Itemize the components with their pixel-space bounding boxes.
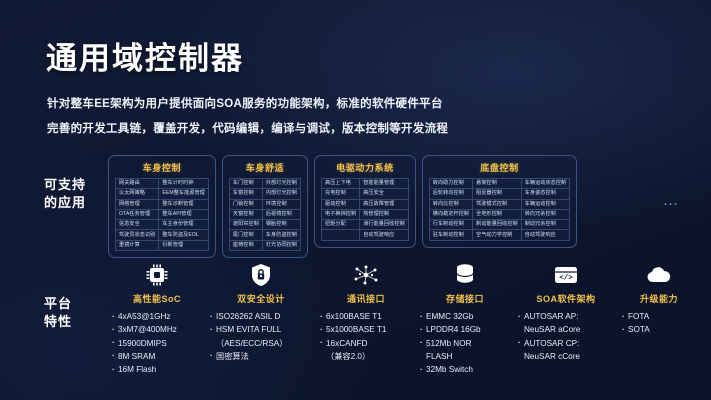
panel-columns: 车门控制 车窗控制 门锁控制 天窗控制 遮阳帘控制 尾门控制 座椅控制 外部灯光… [229,178,301,251]
panel-cell: 灯光协同控制 [263,241,301,251]
panel-column: 整车计时时钟 EEM整车能源管理 整车诊断管理 整车API管理 车主身份管理 整… [159,178,209,251]
feature-item: AUTOSAR AP: [524,310,580,323]
feature-soa-software-architecture[interactable]: </> SOA软件架构 AUTOSAR AP: NeuSAR aCore AUT… [514,262,618,363]
panel-body-control[interactable]: 车身控制 网关路由 以太网策略 网络管理 OTA任务管理 信息安全 驾驶员状态识… [108,155,216,258]
feature-item: 16xCANFD [326,337,386,350]
panel-cell: 外部灯光控制 [263,178,301,189]
panel-columns: 网关路由 以太网策略 网络管理 OTA任务管理 信息安全 驾驶员状态识别 重镜计… [115,178,209,251]
feature-item: 4xA53@1GHz [118,310,177,323]
feature-upgrade-capability[interactable]: 升级能力 FOTA SOTA [618,262,700,337]
feature-item-continuation: （兼容2.0） [326,350,386,363]
feature-title: 通讯接口 [316,292,416,305]
panel-cell: 高压上下电 [321,178,360,189]
panel-cell: 车身防盗控制 [263,230,301,240]
panel-cell: 整车API管理 [159,210,209,220]
panel-cell: 空气动力学控制 [473,230,522,240]
panel-cell: 高压故障管理 [360,200,409,210]
panel-cell: 驻车制动控制 [429,230,473,240]
applications-section-label: 可支持 的应用 [44,176,106,212]
feature-item: ISO26262 ASIL D [216,310,287,323]
feature-communication-interface[interactable]: 通讯接口 6x100BASE T1 5x1000BASE T1 16xCANFD… [316,262,416,363]
panel-cell: 车身姿态控制 [522,189,571,199]
panel-cell: 扭矩分配 [321,220,360,230]
feature-dual-safety-design[interactable]: 双安全设计 ISO26262 ASIL D HSM EVITA FULL （AE… [206,262,316,363]
panel-column: 悬架控制 阻尼器控制 驾驶模式控制 全地形控制 制动能量回收控制 空气动力学控制 [473,178,522,241]
panel-cell: 遮阳帘控制 [229,220,263,230]
feature-title: 高性能SoC [108,292,206,305]
platform-section-label: 平台 特性 [44,295,106,331]
panel-column: 车辆运动状态控制 车身姿态控制 车辆运动控制 转向冗余控制 制动冗余控制 自动驾… [522,178,571,241]
panel-cell: 转向冗余控制 [522,210,571,220]
shield-lock-icon [206,262,316,288]
database-icon [416,262,514,288]
panel-chassis-control[interactable]: 底盘控制 转向助力控制 后轮转向控制 转向比控制 横向稳定杆控制 行车制动控制 … [422,155,577,248]
panel-column: 车门控制 车窗控制 门锁控制 天窗控制 遮阳帘控制 尾门控制 座椅控制 [229,178,263,251]
panel-cell: 整车计时时钟 [159,178,209,189]
panel-title: 车身控制 [115,161,209,174]
feature-item-list: 6x100BASE T1 5x1000BASE T1 16xCANFD （兼容2… [316,310,386,363]
feature-item-list: AUTOSAR AP: NeuSAR aCore AUTOSAR CP: Neu… [514,310,580,363]
feature-item: 国密算法 [216,350,287,363]
panel-columns: 转向助力控制 后轮转向控制 转向比控制 横向稳定杆控制 行车制动控制 驻车制动控… [429,178,570,241]
panel-cell: 智能能量管理 [360,178,409,189]
more-panels-indicator[interactable]: ... [664,196,679,208]
panel-cell: 自动驾驶响应 [522,230,571,240]
panel-column: 转向助力控制 后轮转向控制 转向比控制 横向稳定杆控制 行车制动控制 驻车制动控… [429,178,473,241]
feature-item: FOTA [628,310,650,323]
panel-cell: 滑行能量回收控制 [360,220,409,230]
panel-cell: 衍新管理 [159,241,209,251]
feature-item-continuation: NeuSAR cCore [524,350,580,363]
panel-cell: 制动能量回收控制 [473,220,522,230]
feature-item: 8M SRAM [118,350,177,363]
panel-cell: 驱动控制 [321,200,360,210]
panel-column: 网关路由 以太网策略 网络管理 OTA任务管理 信息安全 驾驶员状态识别 重镜计… [115,178,159,251]
panel-cell: 网络管理 [115,200,159,210]
page-title: 通用域控制器 [46,33,244,78]
panel-cell: 车辆运动控制 [522,200,571,210]
panel-body-comfort[interactable]: 车身舒适 车门控制 车窗控制 门锁控制 天窗控制 遮阳帘控制 尾门控制 座椅控制… [222,155,308,258]
platform-label-line-2: 特性 [44,313,106,331]
feature-item-list: FOTA SOTA [618,310,650,337]
panel-cell: 后轮转向控制 [429,189,473,199]
feature-item: 6x100BASE T1 [326,310,386,323]
panel-cell: 天窗控制 [229,210,263,220]
panel-cell: 转向助力控制 [429,178,473,189]
panel-cell: 转向比控制 [429,200,473,210]
panel-cell: 网关路由 [115,178,159,189]
panel-cell: 行车制动控制 [429,220,473,230]
panel-cell: 内部灯光控制 [263,189,301,199]
chip-icon [108,262,206,288]
panel-cell: 座椅控制 [229,241,263,251]
panel-column: 高压上下电 充电控制 驱动控制 电子换挡控制 扭矩分配 . [321,178,360,241]
feature-item: 15900DMIPS [118,337,177,350]
platform-label-line-1: 平台 [44,295,106,313]
network-icon [316,262,416,288]
panel-cell: 高压安全 [360,189,409,199]
feature-item: 512Mb NOR [426,337,481,350]
panel-electric-powertrain[interactable]: 电驱动力系统 高压上下电 充电控制 驱动控制 电子换挡控制 扭矩分配 . 智能能… [314,155,416,248]
panel-column: 智能能量管理 高压安全 高压故障管理 热管理控制 滑行能量回收控制 自动驾驶响应 [360,178,409,241]
panel-cell: 车辆运动状态控制 [522,178,571,189]
feature-item: 16M Flash [118,363,177,376]
feature-storage-interface[interactable]: 存储接口 EMMC 32Gb LPDDR4 16Gb 512Mb NOR FLA… [416,262,514,376]
cloud-icon [618,262,700,288]
subtitle-line-2: 完善的开发工具链，覆盖开发，代码编辑，编译与调试，版本控制等开发流程 [47,120,448,136]
panel-title: 电驱动力系统 [321,161,409,174]
panel-cell: 环境控制 [263,200,301,210]
feature-item: 5x1000BASE T1 [326,323,386,336]
panel-cell: 悬架控制 [473,178,522,189]
panel-cell: 制动冗余控制 [522,220,571,230]
panel-cell: 钢胎控制 [263,220,301,230]
applications-label-line-1: 可支持 [44,176,106,194]
panel-cell: 全地形控制 [473,210,522,220]
panel-cell: OTA任务管理 [115,210,159,220]
panel-cell: 自动驾驶响应 [360,230,409,240]
panel-cell: 以太网策略 [115,189,159,199]
feature-title: 双安全设计 [206,292,316,305]
panel-cell-spacer: . [321,230,360,240]
subtitle-line-1: 针对整车EE架构为用户提供面向SOA服务的功能架构，标准的软件硬件平台 [47,95,443,111]
svg-text:</>: </> [559,275,573,283]
feature-item: 3xM7@400MHz [118,323,177,336]
code-window-icon: </> [514,262,618,288]
panel-cell: 车门控制 [229,178,263,189]
feature-item-list: 4xA53@1GHz 3xM7@400MHz 15900DMIPS 8M SRA… [108,310,177,376]
panel-title: 底盘控制 [429,161,570,174]
platform-features: 高性能SoC 4xA53@1GHz 3xM7@400MHz 15900DMIPS… [108,262,700,376]
panel-cell: 整车防盗及EOL [159,230,209,240]
feature-item-continuation: FLASH [426,350,481,363]
slide-canvas: 通用域控制器 针对整车EE架构为用户提供面向SOA服务的功能架构，标准的软件硬件… [0,0,711,400]
feature-item: AUTOSAR CP: [524,337,580,350]
panel-cell: 驾驶员状态识别 [115,230,159,240]
feature-item: LPDDR4 16Gb [426,323,481,336]
panel-cell: 横向稳定杆控制 [429,210,473,220]
feature-title: SOA软件架构 [514,292,618,305]
feature-item: 32Mb Switch [426,363,481,376]
panel-cell: 电子换挡控制 [321,210,360,220]
feature-item-continuation: （AES/ECC/RSA） [216,337,287,350]
feature-item-list: ISO26262 ASIL D HSM EVITA FULL （AES/ECC/… [206,310,287,363]
panel-cell: 阻尼器控制 [473,189,522,199]
panel-cell: 整车诊断管理 [159,200,209,210]
feature-item: HSM EVITA FULL [216,323,287,336]
panel-cell: 后视镜控制 [263,210,301,220]
feature-title: 存储接口 [416,292,514,305]
panel-cell: 门锁控制 [229,200,263,210]
feature-item-continuation: NeuSAR aCore [524,323,580,336]
panel-column: 外部灯光控制 内部灯光控制 环境控制 后视镜控制 钢胎控制 车身防盗控制 灯光协… [263,178,301,251]
feature-high-performance-soc[interactable]: 高性能SoC 4xA53@1GHz 3xM7@400MHz 15900DMIPS… [108,262,206,376]
feature-item: EMMC 32Gb [426,310,481,323]
panel-cell: 重镜计算 [115,241,159,251]
applications-label-line-2: 的应用 [44,194,106,212]
panel-title: 车身舒适 [229,161,301,174]
application-panels: 车身控制 网关路由 以太网策略 网络管理 OTA任务管理 信息安全 驾驶员状态识… [108,155,577,258]
feature-item-list: EMMC 32Gb LPDDR4 16Gb 512Mb NOR FLASH 32… [416,310,481,376]
panel-cell: 信息安全 [115,220,159,230]
feature-item: SOTA [628,323,650,336]
feature-title: 升级能力 [618,292,700,305]
panel-cell: 车窗控制 [229,189,263,199]
panel-cell: 热管理控制 [360,210,409,220]
panel-cell: EEM整车能源管理 [159,189,209,199]
panel-columns: 高压上下电 充电控制 驱动控制 电子换挡控制 扭矩分配 . 智能能量管理 高压安… [321,178,409,241]
panel-cell: 车主身份管理 [159,220,209,230]
panel-cell: 驾驶模式控制 [473,200,522,210]
panel-cell: 充电控制 [321,189,360,199]
panel-cell: 尾门控制 [229,230,263,240]
